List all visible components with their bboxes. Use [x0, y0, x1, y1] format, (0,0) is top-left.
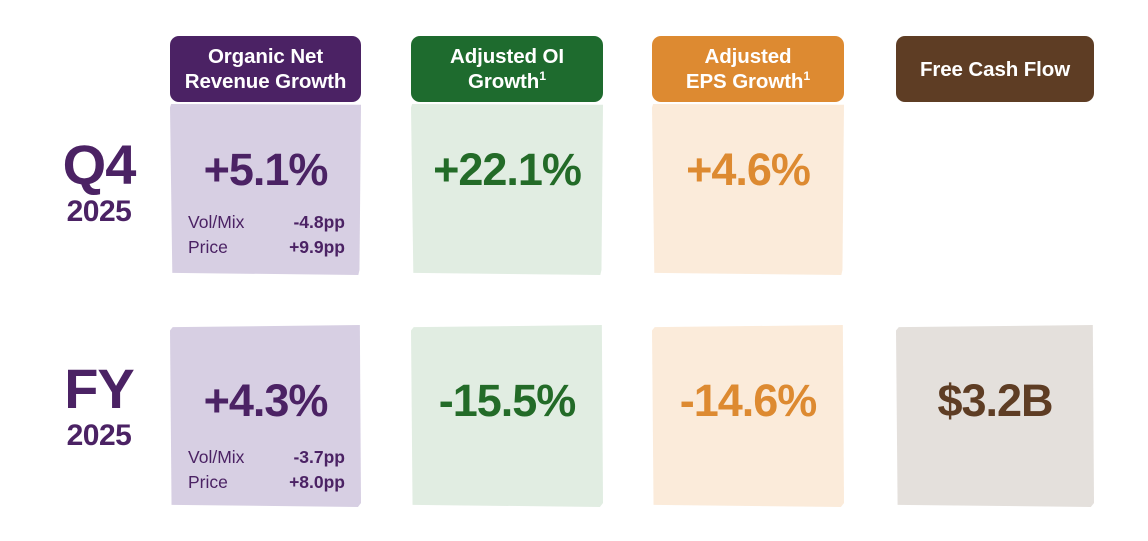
metric-value: +5.1% — [170, 144, 361, 196]
footnote-marker: 1 — [803, 69, 810, 83]
column-header-text: Organic NetRevenue Growth — [185, 44, 347, 94]
row-year: 2025 — [24, 194, 174, 230]
column-header-line-1: Adjusted — [686, 44, 810, 69]
column-header-adjusted-oi-growth: Adjusted OIGrowth1 — [411, 36, 603, 102]
submetric-label: Vol/Mix — [188, 210, 244, 235]
row-q4-2025-label: Q42025 — [24, 136, 174, 230]
column-header-line-2: EPS Growth1 — [686, 69, 810, 94]
submetric-label: Price — [188, 235, 228, 260]
row-year: 2025 — [24, 418, 174, 454]
submetric-value: +9.9pp — [289, 235, 345, 260]
metric-value: +4.6% — [652, 144, 844, 196]
column-header-line-2: Growth1 — [450, 69, 564, 94]
row-fy-2025-label: FY2025 — [24, 360, 174, 454]
column-header-text: Adjusted OIGrowth1 — [450, 44, 564, 94]
submetric-row: Vol/Mix-4.8pp — [188, 210, 345, 235]
metric-cell-organic-net-revenue-growth-fy_2025: +4.3%Vol/Mix-3.7ppPrice+8.0pp — [170, 325, 361, 507]
metric-value: $3.2B — [896, 375, 1094, 427]
submetric-label: Price — [188, 470, 228, 495]
row-period: Q4 — [24, 136, 174, 194]
column-header-line-2: Revenue Growth — [185, 69, 347, 94]
submetric-row: Price+9.9pp — [188, 235, 345, 260]
column-header-adjusted-eps-growth: AdjustedEPS Growth1 — [652, 36, 844, 102]
metric-cell-organic-net-revenue-growth-q4_2025: +5.1%Vol/Mix-4.8ppPrice+9.9pp — [170, 104, 361, 276]
submetric-value: +8.0pp — [289, 470, 345, 495]
submetric-value: -4.8pp — [293, 210, 345, 235]
submetric-list: Vol/Mix-4.8ppPrice+9.9pp — [188, 210, 345, 260]
metric-cell-free-cash-flow-fy_2025: $3.2B — [896, 325, 1094, 507]
metric-value: -15.5% — [411, 375, 603, 427]
submetric-row: Vol/Mix-3.7pp — [188, 445, 345, 470]
column-header-line-1: Organic Net — [185, 44, 347, 69]
metrics-scorecard: Organic NetRevenue GrowthAdjusted OIGrow… — [0, 0, 1148, 541]
column-header-free-cash-flow: Free Cash Flow — [896, 36, 1094, 102]
column-header-text: Free Cash Flow — [920, 57, 1070, 82]
submetric-value: -3.7pp — [293, 445, 345, 470]
submetric-list: Vol/Mix-3.7ppPrice+8.0pp — [188, 445, 345, 495]
submetric-row: Price+8.0pp — [188, 470, 345, 495]
footnote-marker: 1 — [539, 69, 546, 83]
column-header-line-1: Adjusted OI — [450, 44, 564, 69]
column-header-organic-net-revenue-growth: Organic NetRevenue Growth — [170, 36, 361, 102]
metric-cell-adjusted-oi-growth-fy_2025: -15.5% — [411, 325, 603, 507]
column-header-line-1: Free Cash Flow — [920, 57, 1070, 82]
submetric-label: Vol/Mix — [188, 445, 244, 470]
metric-cell-adjusted-eps-growth-q4_2025: +4.6% — [652, 104, 844, 276]
metric-value: +22.1% — [411, 144, 603, 196]
metric-cell-adjusted-oi-growth-q4_2025: +22.1% — [411, 104, 603, 276]
metric-cell-adjusted-eps-growth-fy_2025: -14.6% — [652, 325, 844, 507]
metric-value: -14.6% — [652, 375, 844, 427]
metric-value: +4.3% — [170, 375, 361, 427]
row-period: FY — [24, 360, 174, 418]
column-header-text: AdjustedEPS Growth1 — [686, 44, 810, 94]
